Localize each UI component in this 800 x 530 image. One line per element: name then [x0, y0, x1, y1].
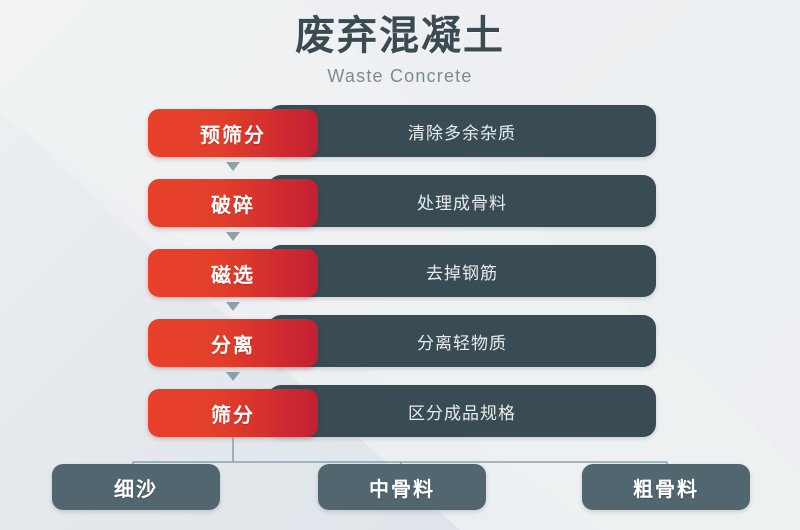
flow-description-5: 区分成品规格 — [268, 385, 656, 437]
flow-description-label-3: 去掉钢筋 — [426, 259, 498, 284]
output-box-2[interactable]: 中骨料 — [318, 464, 486, 510]
arrow-down-icon-1 — [226, 162, 240, 171]
flow-description-label-2: 处理成骨料 — [417, 189, 507, 214]
flow-stage-1[interactable]: 预筛分 — [148, 109, 318, 157]
output-boxes: 细沙 中骨料 粗骨料 — [0, 464, 800, 512]
flow-row-3: 去掉钢筋 磁选 — [0, 245, 800, 301]
flow-stage-5[interactable]: 筛分 — [148, 389, 318, 437]
arrow-down-icon-3 — [226, 302, 240, 311]
flow-stage-label-2: 破碎 — [211, 189, 255, 218]
flow-description-4: 分离轻物质 — [268, 315, 656, 367]
flow-description-1: 清除多余杂质 — [268, 105, 656, 157]
infographic-root: 废弃混凝土 Waste Concrete 清除多余杂质 预筛分 处理成骨料 破碎… — [0, 0, 800, 530]
flow-row-1: 清除多余杂质 预筛分 — [0, 105, 800, 161]
page-subtitle: Waste Concrete — [0, 66, 800, 87]
output-box-3[interactable]: 粗骨料 — [582, 464, 750, 510]
flow-stage-label-5: 筛分 — [211, 399, 255, 428]
output-label-1: 细沙 — [114, 473, 158, 502]
output-box-1[interactable]: 细沙 — [52, 464, 220, 510]
flow-description-label-1: 清除多余杂质 — [408, 119, 516, 144]
flow-stage-2[interactable]: 破碎 — [148, 179, 318, 227]
arrow-down-icon-4 — [226, 372, 240, 381]
flow-row-5: 区分成品规格 筛分 — [0, 385, 800, 441]
flow-description-label-5: 区分成品规格 — [408, 399, 516, 424]
flow-stage-4[interactable]: 分离 — [148, 319, 318, 367]
flow-stage-label-4: 分离 — [211, 329, 255, 358]
page-title: 废弃混凝土 — [0, 14, 800, 58]
process-flow: 清除多余杂质 预筛分 处理成骨料 破碎 去掉钢筋 磁选 — [0, 105, 800, 445]
output-label-3: 粗骨料 — [633, 473, 699, 502]
flow-stage-label-3: 磁选 — [211, 259, 255, 288]
flow-row-4: 分离轻物质 分离 — [0, 315, 800, 371]
flow-stage-3[interactable]: 磁选 — [148, 249, 318, 297]
header: 废弃混凝土 Waste Concrete — [0, 14, 800, 87]
arrow-down-icon-2 — [226, 232, 240, 241]
flow-description-label-4: 分离轻物质 — [417, 329, 507, 354]
flow-stage-label-1: 预筛分 — [200, 119, 266, 148]
flow-description-3: 去掉钢筋 — [268, 245, 656, 297]
flow-row-2: 处理成骨料 破碎 — [0, 175, 800, 231]
output-label-2: 中骨料 — [369, 473, 435, 502]
flow-description-2: 处理成骨料 — [268, 175, 656, 227]
